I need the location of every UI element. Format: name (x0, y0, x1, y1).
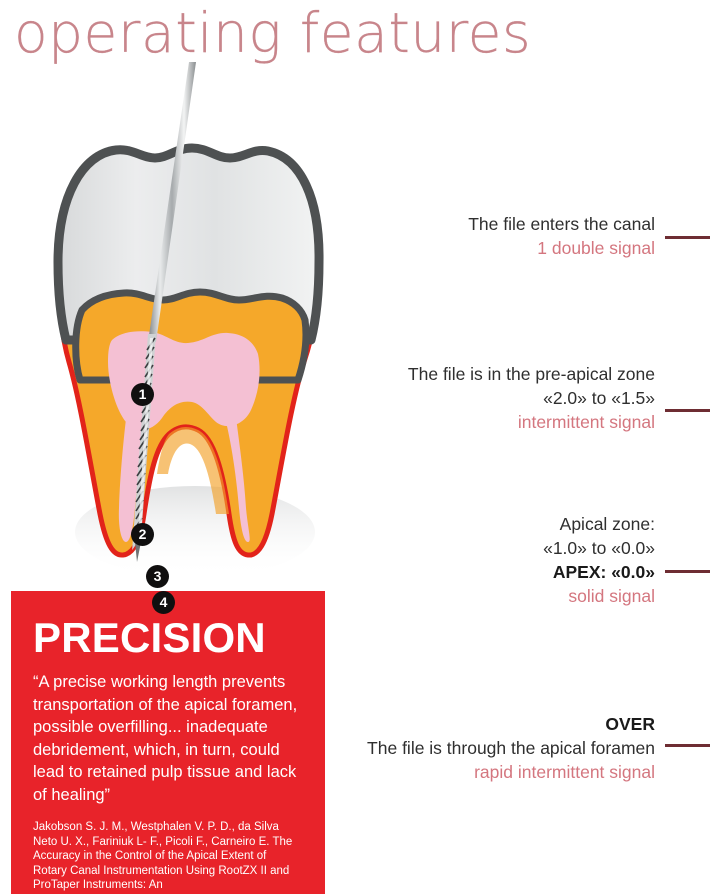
annotation-2-line-1: The file is in the pre-apical zone (335, 362, 655, 386)
marker-4: 4 (152, 591, 175, 614)
connector-line-3 (665, 570, 710, 573)
tooth-cross-section-svg (20, 62, 350, 582)
annotation-pre-apical-zone: The file is in the pre-apical zone «2.0»… (335, 362, 655, 434)
precision-callout-box: PRECISION “A precise working length prev… (11, 591, 325, 894)
annotation-1-line-2: 1 double signal (335, 236, 655, 260)
annotation-apical-zone: Apical zone: «1.0» to «0.0» APEX: «0.0» … (335, 512, 655, 608)
annotation-4-line-1-over: OVER (335, 712, 655, 736)
annotation-2-line-3: intermittent signal (335, 410, 655, 434)
annotation-3-line-1: Apical zone: (335, 512, 655, 536)
marker-3: 3 (146, 565, 169, 588)
precision-citation: Jakobson S. J. M., Westphalen V. P. D., … (33, 820, 303, 893)
marker-2: 2 (131, 523, 154, 546)
connector-line-2 (665, 409, 710, 412)
connector-line-4 (665, 744, 710, 747)
precision-quote: “A precise working length prevents trans… (33, 671, 303, 806)
annotation-3-line-4: solid signal (335, 584, 655, 608)
annotation-4-line-3: rapid intermittent signal (335, 760, 655, 784)
annotation-1-line-1: The file enters the canal (335, 212, 655, 236)
connector-line-1 (665, 236, 710, 239)
precision-title: PRECISION (33, 615, 303, 661)
annotation-over-apical-foramen: OVER The file is through the apical fora… (335, 712, 655, 784)
annotation-3-line-3-apex: APEX: «0.0» (335, 560, 655, 584)
annotation-4-line-2: The file is through the apical foramen (335, 736, 655, 760)
page-title: operating features (14, 2, 531, 64)
annotation-3-line-2: «1.0» to «0.0» (335, 536, 655, 560)
tooth-diagram: 1 2 3 4 (20, 62, 350, 582)
marker-1: 1 (131, 383, 154, 406)
annotation-2-line-2: «2.0» to «1.5» (335, 386, 655, 410)
annotation-file-enters-canal: The file enters the canal 1 double signa… (335, 212, 655, 260)
